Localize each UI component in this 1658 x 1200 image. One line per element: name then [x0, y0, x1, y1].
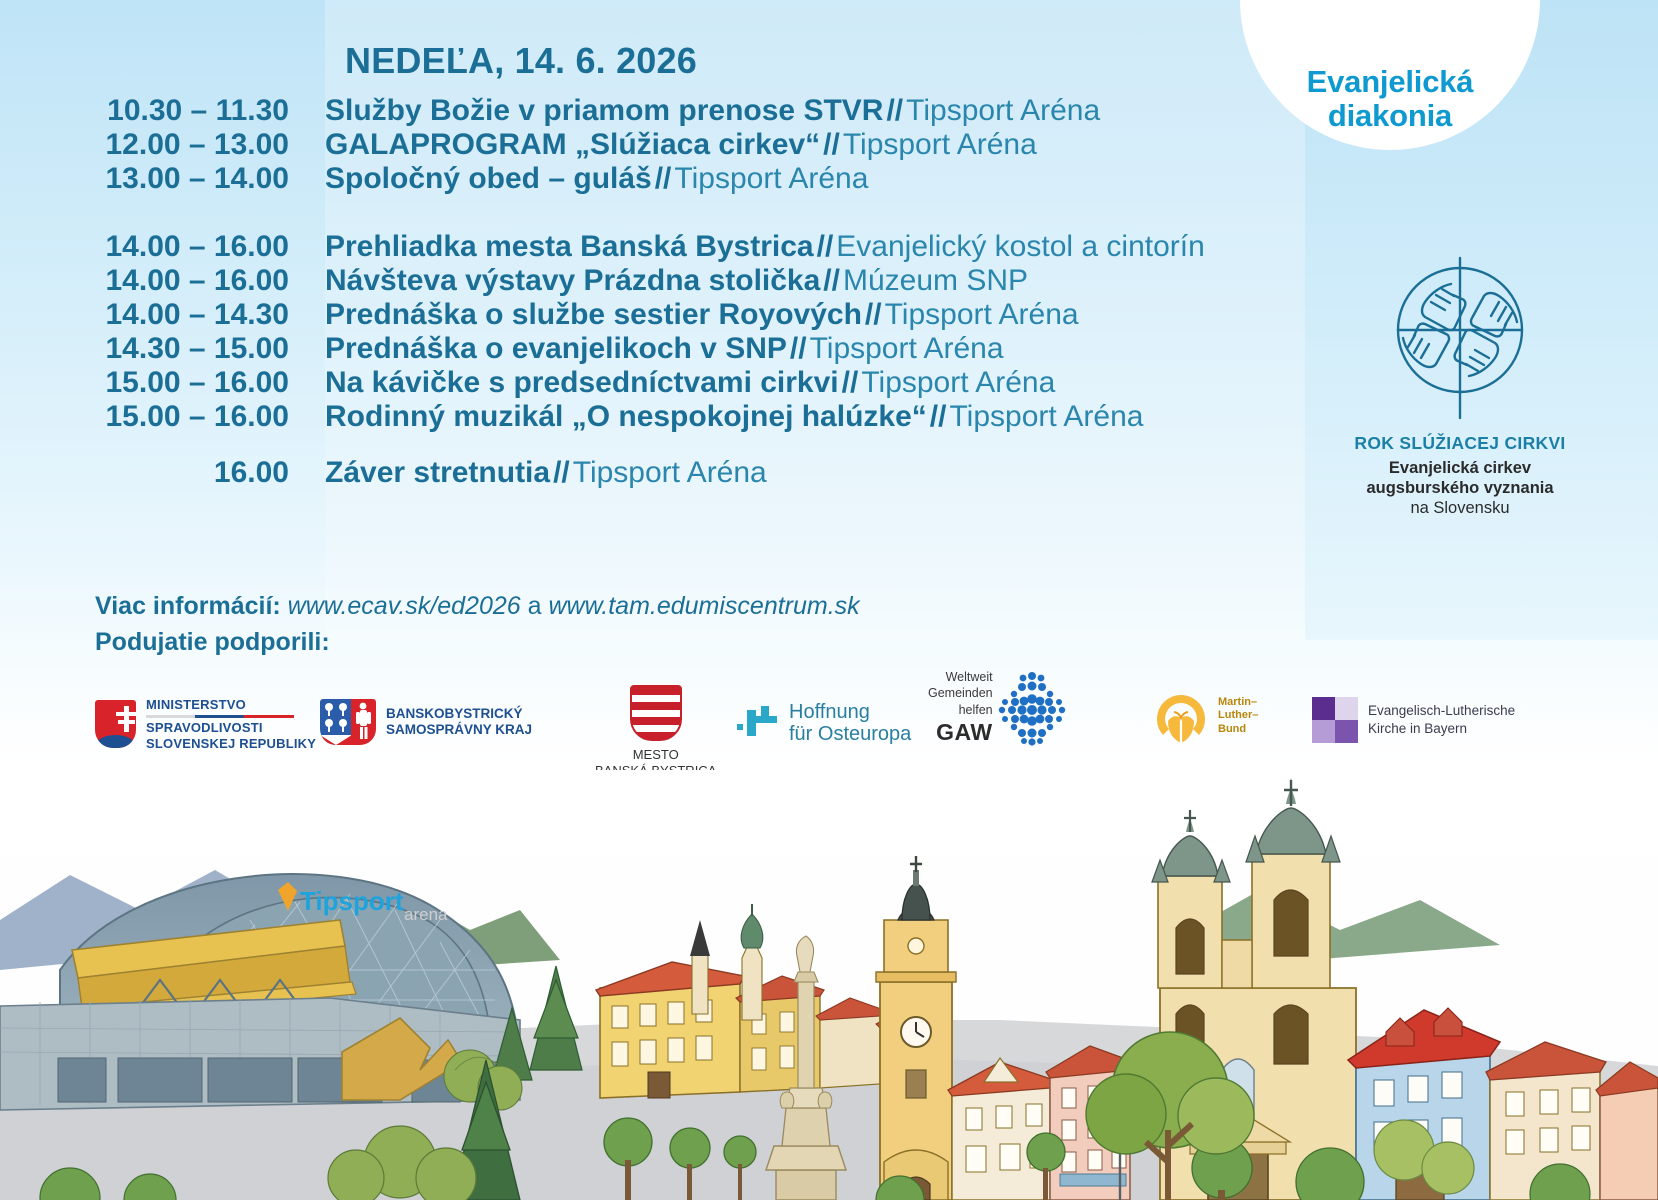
rok-sluziacej-cirkvi-emblem: ROK SLÚŽIACEJ CIRKVI Evanjelická cirkev … [1310, 250, 1610, 518]
schedule-separator: // [820, 128, 843, 161]
crest-knight-icon [351, 699, 376, 745]
schedule-venue: Tipsport Aréna [810, 332, 1004, 365]
sponsor-name-line2: SPRAVODLIVOSTI [146, 720, 316, 736]
sponsor-name-line2: für Osteuropa [789, 723, 911, 745]
schedule-time: 13.00 – 14.00 [0, 162, 325, 196]
schedule-venue: Tipsport Aréna [861, 366, 1055, 399]
sponsor-logo-row: MINISTERSTVO SPRAVODLIVOSTI SLOVENSKEJ R… [0, 675, 1658, 770]
schedule-time: 15.00 – 16.00 [0, 366, 325, 400]
tricolor-rule [146, 715, 294, 718]
schedule-time: 14.30 – 15.00 [0, 332, 325, 366]
banska-bystrica-cityscape-illustration: Tipsport arena [0, 770, 1658, 1200]
emblem-subtitle: Evanjelická cirkev augsburského vyznania… [1310, 458, 1610, 518]
sponsor-logo-hoffnung-fur-osteuropa: Hoffnung für Osteuropa [735, 701, 911, 745]
schedule-description: GALAPROGRAM „Slúžiaca cirkev“//Tipsport … [325, 128, 1037, 162]
schedule-spacer [0, 434, 1290, 456]
schedule-venue: Tipsport Aréna [949, 400, 1143, 433]
schedule-title: Záver stretnutia [325, 456, 550, 489]
schedule-row: 14.00 – 16.00 Prehliadka mesta Banská By… [0, 230, 1290, 264]
sponsor-name-line2: SAMOSPRÁVNY KRAJ [386, 722, 532, 738]
schedule-separator: // [652, 162, 675, 195]
sponsor-name-line2: Gemeinden [928, 685, 993, 701]
gaw-halftone-cross-icon [993, 669, 1071, 747]
three-hills-icon [95, 735, 136, 748]
svg-text:arena: arena [404, 905, 448, 924]
hoffnung-cross-icon [735, 702, 781, 744]
schedule-title: GALAPROGRAM „Slúžiaca cirkev“ [325, 128, 820, 161]
schedule-description: Prednáška o službe sestier Royových//Tip… [325, 298, 1079, 332]
schedule-title: Rodinný muzikál „O nespokojnej halúzke“ [325, 400, 927, 433]
schedule-time: 12.00 – 13.00 [0, 128, 325, 162]
helping-hands-cross-icon [1365, 250, 1555, 425]
schedule-description: Spoločný obed – guláš//Tipsport Aréna [325, 162, 868, 196]
schedule-row: 14.00 – 14.30 Prednáška o službe sestier… [0, 298, 1290, 332]
square-bottom-right [1335, 720, 1358, 743]
sponsor-name-line1: BANSKOBYSTRICKÝ [386, 706, 532, 722]
schedule-row: 15.00 – 16.00 Na kávičke s predsedníctva… [0, 366, 1290, 400]
diakonia-name-line2: diakonia [1307, 99, 1474, 132]
emblem-subtitle-line2: augsburského vyznania [1310, 478, 1610, 498]
crest-trees-icon [320, 699, 352, 745]
more-info-label: Viac informácií: [95, 592, 281, 620]
crest-left-field [320, 699, 351, 745]
schedule-row: 12.00 – 13.00 GALAPROGRAM „Slúžiaca cirk… [0, 128, 1290, 162]
schedule-venue: Tipsport Aréna [885, 298, 1079, 331]
sponsor-logo-ministerstvo-spravodlivosti: MINISTERSTVO SPRAVODLIVOSTI SLOVENSKEJ R… [95, 697, 316, 752]
schedule-description: Záver stretnutia//Tipsport Aréna [325, 456, 767, 490]
sponsor-name-line1: MINISTERSTVO [146, 697, 316, 713]
sponsor-name-line4: GAW [928, 718, 993, 748]
website-link-2[interactable]: www.tam.edumiscentrum.sk [548, 592, 859, 620]
elkb-squares-icon [1312, 697, 1358, 743]
square-top-right [1335, 697, 1358, 720]
schedule-time: 14.00 – 16.00 [0, 264, 325, 298]
schedule-time: 14.00 – 16.00 [0, 230, 325, 264]
sponsor-logo-mesto-banska-bystrica: MESTO BANSKÁ BYSTRICA [595, 685, 716, 780]
sponsor-logo-bbsk: BANSKOBYSTRICKÝ SAMOSPRÁVNY KRAJ [320, 699, 532, 745]
schedule-spacer [0, 196, 1290, 230]
sponsor-name-line2: Kirche in Bayern [1368, 720, 1515, 738]
emblem-subtitle-line1: Evanjelická cirkev [1310, 458, 1610, 478]
website-link-1[interactable]: www.ecav.sk/ed2026 [288, 592, 521, 620]
schedule-separator: // [862, 298, 885, 331]
slovak-coat-of-arms-icon [95, 700, 136, 748]
schedule-separator: // [550, 456, 573, 489]
square-top-left [1312, 697, 1335, 720]
schedule-row: 16.00 Záver stretnutia//Tipsport Aréna [0, 456, 1290, 490]
schedule-title: Prehliadka mesta Banská Bystrica [325, 230, 814, 263]
schedule-venue: Tipsport Aréna [674, 162, 868, 195]
sponsor-logo-martin-luther-bund: Martin– Luther– Bund [1152, 691, 1258, 741]
schedule-separator: // [839, 366, 862, 399]
schedule-venue: Tipsport Aréna [573, 456, 767, 489]
schedule-venue: Tipsport Aréna [906, 94, 1100, 127]
bbsk-crest-icon [320, 699, 376, 745]
schedule-title: Prednáška o evanjelikoch v SNP [325, 332, 787, 365]
sponsor-name-line3: Bund [1218, 723, 1258, 736]
martin-luther-bund-rose-icon [1152, 691, 1210, 741]
schedule-time: 15.00 – 16.00 [0, 400, 325, 434]
schedule-row: 10.30 – 11.30 Služby Božie v priamom pre… [0, 94, 1290, 128]
schedule-time: 10.30 – 11.30 [0, 94, 325, 128]
schedule-title: Spoločný obed – guláš [325, 162, 652, 195]
schedule-title: Prednáška o službe sestier Royových [325, 298, 862, 331]
sponsor-name-line1: Martin– [1218, 696, 1258, 709]
sponsor-name-line3: SLOVENSKEJ REPUBLIKY [146, 736, 316, 752]
conjunction: a [528, 592, 542, 620]
schedule-time: 16.00 [0, 456, 325, 490]
schedule-description: Prehliadka mesta Banská Bystrica//Evanje… [325, 230, 1205, 264]
banska-bystrica-crest-icon [630, 685, 682, 741]
schedule-time: 14.00 – 14.30 [0, 298, 325, 332]
sponsor-name-line2: Luther– [1218, 709, 1258, 722]
schedule-row: 14.00 – 16.00 Návšteva výstavy Prázdna s… [0, 264, 1290, 298]
schedule-separator: // [820, 264, 843, 297]
schedule-venue: Evanjelický kostol a cintorín [836, 230, 1205, 263]
diakonia-logo-text: Evanjelická diakonia [1307, 65, 1474, 132]
sponsor-name-line1: Weltweit [928, 669, 993, 685]
schedule-title: Na kávičke s predsedníctvami cirkvi [325, 366, 839, 399]
schedule-venue: Múzeum SNP [843, 264, 1028, 297]
schedule-description: Prednáška o evanjelikoch v SNP//Tipsport… [325, 332, 1004, 366]
sponsor-name-line3: helfen [928, 702, 993, 718]
gaw-text-block: Weltweit Gemeinden helfen GAW [928, 669, 993, 748]
sponsor-name-line1: Evangelisch-Lutherische [1368, 702, 1515, 720]
more-info-line: Viac informácií: www.ecav.sk/ed2026 a ww… [95, 592, 860, 621]
sponsor-logo-elkb: Evangelisch-Lutherische Kirche in Bayern [1312, 697, 1515, 743]
schedule-description: Na kávičke s predsedníctvami cirkvi//Tip… [325, 366, 1055, 400]
schedule-separator: // [814, 230, 837, 263]
svg-text:Tipsport: Tipsport [300, 886, 404, 916]
schedule-separator: // [883, 94, 906, 127]
schedule-row: 15.00 – 16.00 Rodinný muzikál „O nespoko… [0, 400, 1290, 434]
schedule-separator: // [787, 332, 810, 365]
sponsor-name-line1: MESTO [595, 747, 716, 763]
emblem-title: ROK SLÚŽIACEJ CIRKVI [1310, 433, 1610, 454]
emblem-subtitle-line3: na Slovensku [1310, 498, 1610, 518]
crest-right-field [351, 699, 376, 745]
schedule-venue: Tipsport Aréna [843, 128, 1037, 161]
schedule-description: Služby Božie v priamom prenose STVR//Tip… [325, 94, 1100, 128]
schedule-row: 13.00 – 14.00 Spoločný obed – guláš//Tip… [0, 162, 1290, 196]
schedule-description: Návšteva výstavy Prázdna stolička//Múzeu… [325, 264, 1028, 298]
schedule-date-heading: NEDEĽA, 14. 6. 2026 [345, 40, 1290, 82]
square-bottom-left [1312, 720, 1335, 743]
schedule-row: 14.30 – 15.00 Prednáška o evanjelikoch v… [0, 332, 1290, 366]
schedule-separator: // [927, 400, 950, 433]
schedule-description: Rodinný muzikál „O nespokojnej halúzke“/… [325, 400, 1143, 434]
schedule-title: Návšteva výstavy Prázdna stolička [325, 264, 820, 297]
sponsor-name-line1: Hoffnung [789, 701, 911, 723]
sponsor-logo-gaw: Weltweit Gemeinden helfen GAW [928, 669, 1071, 748]
supported-by-label: Podujatie podporili: [95, 628, 330, 657]
schedule-title: Služby Božie v priamom prenose STVR [325, 94, 883, 127]
event-schedule: NEDEĽA, 14. 6. 2026 10.30 – 11.30 Služby… [0, 40, 1290, 490]
diakonia-name-line1: Evanjelická [1307, 65, 1474, 98]
